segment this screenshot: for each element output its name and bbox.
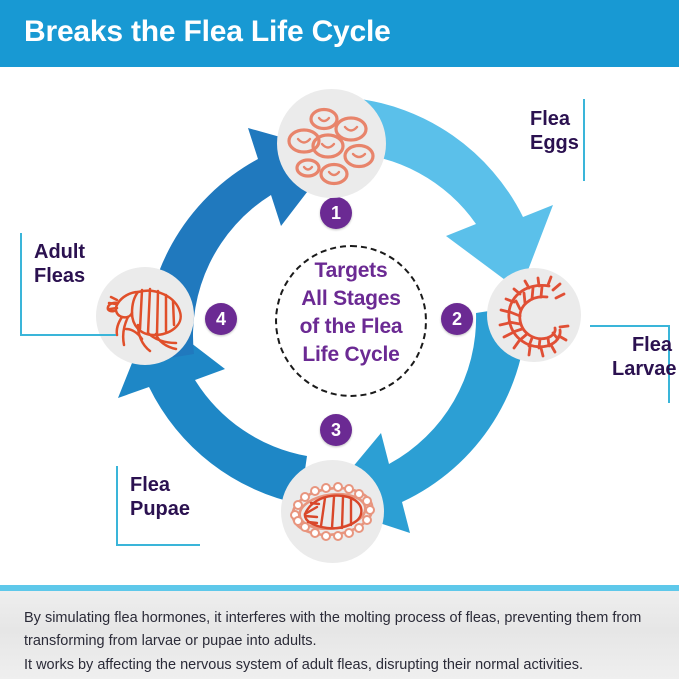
page-title: Breaks the Flea Life Cycle: [24, 15, 391, 49]
flea-eggs-icon: [277, 89, 386, 198]
bracket-line-horizontal: [116, 544, 200, 546]
step-badge-3[interactable]: 3: [320, 414, 352, 446]
flea-larvae-label-line-2: Larvae: [612, 357, 672, 381]
footer-panel: By simulating flea hormones, it interfer…: [0, 591, 679, 679]
adult-fleas-label: Adult Fleas: [34, 240, 85, 289]
flea-larvae-label: Flea Larvae: [612, 333, 672, 382]
infographic-page: Breaks the Flea Life Cycle Targets All S…: [0, 0, 679, 679]
flea-pupa-icon: [281, 460, 384, 563]
bracket-line-horizontal: [590, 325, 670, 327]
flea-pupae-label-line-1: Flea: [130, 473, 190, 497]
cycle-diagram: Targets All Stages of the Flea Life Cycl…: [0, 67, 679, 585]
flea-larvae-bubble[interactable]: [487, 268, 581, 362]
flea-larva-icon: [487, 268, 581, 362]
flea-eggs-label-line-1: Flea: [530, 107, 579, 131]
flea-pupae-bubble[interactable]: [281, 460, 384, 563]
center-line-2: All Stages: [252, 285, 450, 313]
center-line-1: Targets: [252, 257, 450, 285]
flea-eggs-bubble[interactable]: [277, 89, 386, 198]
flea-pupae-label-line-2: Pupae: [130, 497, 190, 521]
step-badge-2[interactable]: 2: [441, 303, 473, 335]
footer-paragraph-2: It works by affecting the nervous system…: [24, 654, 662, 677]
header-bar: Breaks the Flea Life Cycle: [0, 0, 679, 67]
flea-larvae-label-line-1: Flea: [612, 333, 672, 357]
bracket-line-vertical: [116, 466, 118, 546]
footer-description: By simulating flea hormones, it interfer…: [24, 607, 662, 677]
adult-fleas-label-line-1: Adult: [34, 240, 85, 264]
flea-eggs-label-line-2: Eggs: [530, 131, 579, 155]
center-label: Targets All Stages of the Flea Life Cycl…: [252, 257, 450, 369]
bracket-line-vertical: [20, 233, 22, 336]
center-line-4: Life Cycle: [252, 341, 450, 369]
flea-eggs-label: Flea Eggs: [530, 107, 579, 156]
footer-paragraph-1: By simulating flea hormones, it interfer…: [24, 607, 662, 654]
bracket-line-horizontal: [20, 334, 116, 336]
bracket-line-vertical: [583, 99, 585, 181]
step-badge-1[interactable]: 1: [320, 197, 352, 229]
flea-pupae-label: Flea Pupae: [130, 473, 190, 522]
center-line-3: of the Flea: [252, 313, 450, 341]
step-badge-4[interactable]: 4: [205, 303, 237, 335]
adult-fleas-label-line-2: Fleas: [34, 264, 85, 288]
